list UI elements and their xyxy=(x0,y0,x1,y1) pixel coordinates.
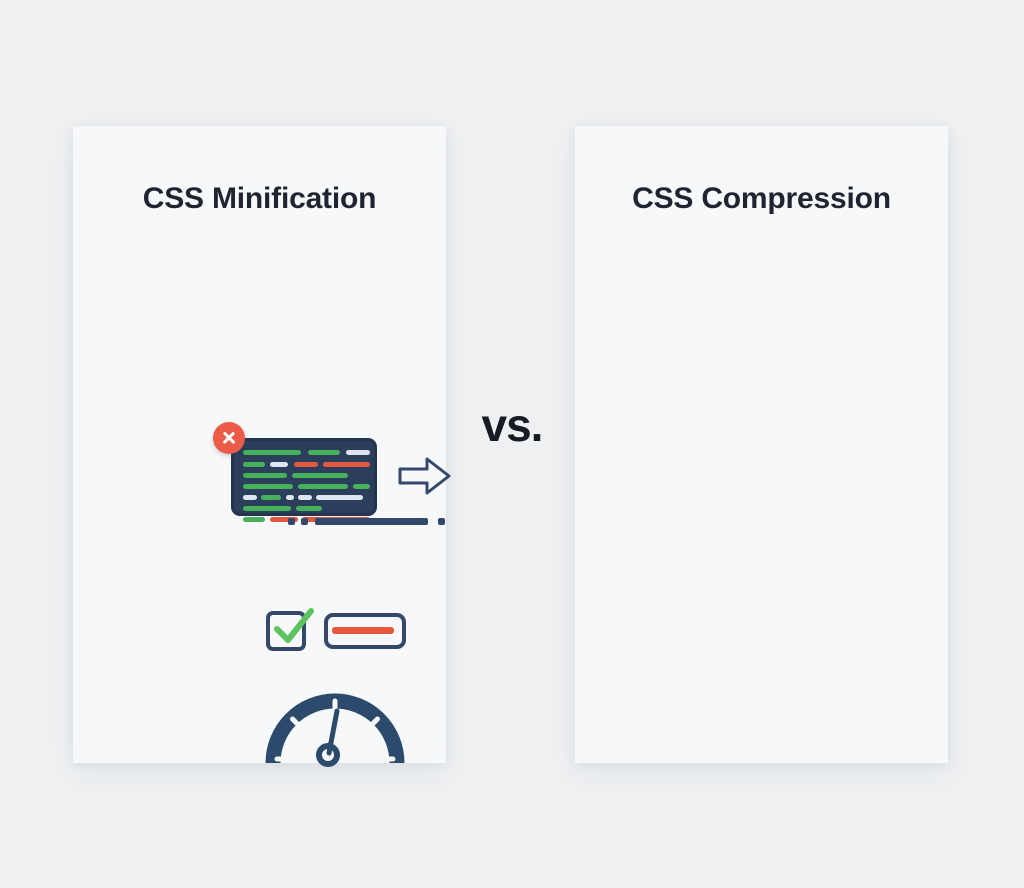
code-line xyxy=(261,495,281,500)
code-dash xyxy=(288,518,295,525)
code-line xyxy=(243,462,265,467)
code-line xyxy=(292,473,348,478)
code-line xyxy=(243,484,293,489)
code-line xyxy=(243,517,265,522)
code-line xyxy=(323,462,370,467)
checkbox-list-illustration xyxy=(266,609,406,655)
code-line xyxy=(296,506,322,511)
infographic-canvas: CSS Minification xyxy=(0,0,1024,888)
right-card-title: CSS Compression xyxy=(575,182,948,216)
code-line xyxy=(243,506,291,511)
error-x-icon xyxy=(213,422,245,454)
code-dash xyxy=(301,518,308,525)
removed-line-marker xyxy=(332,627,394,634)
code-long-bar xyxy=(315,518,428,525)
code-line xyxy=(346,450,370,455)
code-line xyxy=(353,484,370,489)
code-line xyxy=(243,495,257,500)
versus-label: vs. xyxy=(461,398,563,452)
speedometer-icon xyxy=(265,683,405,767)
code-window-frame xyxy=(231,438,377,516)
card-css-minification: CSS Minification xyxy=(73,126,446,763)
card-css-compression: CSS Compression xyxy=(575,126,948,763)
code-line xyxy=(298,484,348,489)
code-line xyxy=(316,495,363,500)
code-line xyxy=(308,450,340,455)
code-dash xyxy=(438,518,445,525)
code-line xyxy=(270,462,288,467)
code-underline-row xyxy=(288,518,448,528)
code-window-illustration xyxy=(231,438,377,516)
code-line xyxy=(298,495,312,500)
green-check-icon xyxy=(270,605,318,653)
code-line xyxy=(294,462,318,467)
arrow-right-icon xyxy=(397,454,453,498)
left-card-title: CSS Minification xyxy=(73,182,446,216)
code-line xyxy=(286,495,294,500)
code-line xyxy=(243,473,287,478)
code-line xyxy=(243,450,301,455)
